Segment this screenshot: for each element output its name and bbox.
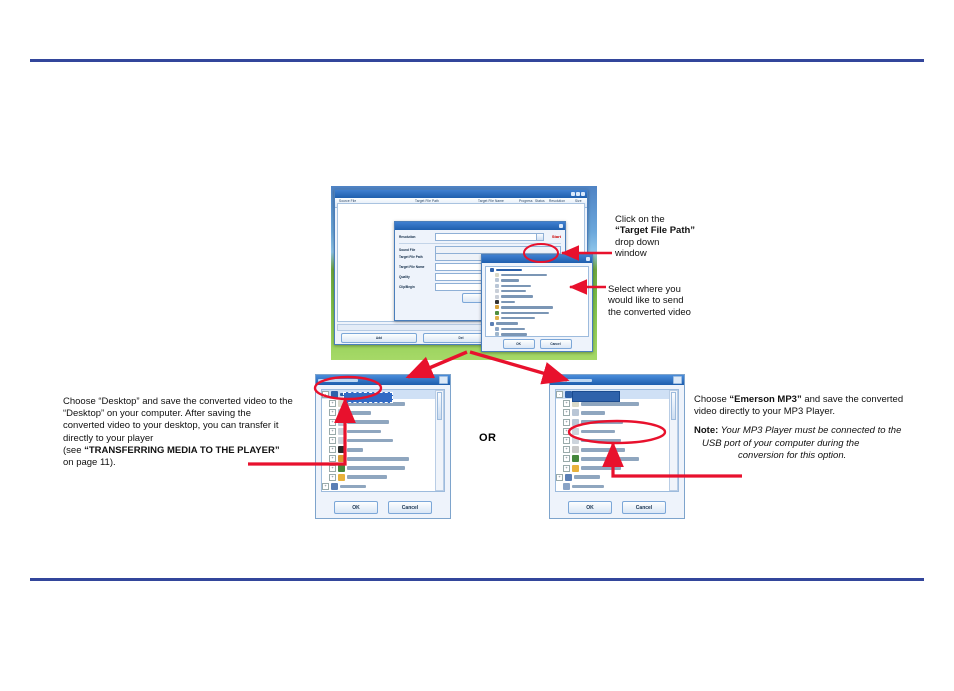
tree-label [496, 269, 522, 271]
tree-item-label [347, 439, 393, 443]
control-panel-icon [495, 327, 499, 331]
web-icon [495, 311, 499, 315]
tree-label [501, 317, 535, 319]
add-button[interactable]: Add [341, 333, 417, 343]
tree-item-label [581, 448, 625, 452]
tree-item-label [347, 466, 405, 470]
or-label: OR [479, 432, 496, 444]
settings-divider [399, 243, 561, 244]
tree-item-recovery-d[interactable]: + [322, 418, 444, 427]
destination-callout-line1: Select where you [608, 284, 798, 295]
dvd-icon [495, 295, 499, 299]
tree-item-label [347, 457, 409, 461]
tree-label [501, 279, 519, 281]
left-dialog-titlebar [316, 375, 450, 385]
tree-label [501, 290, 526, 292]
expand-icon[interactable]: + [563, 446, 570, 453]
tree-item-network[interactable]: + [556, 473, 678, 482]
drive-icon [572, 419, 579, 426]
tree-item-network[interactable]: + [322, 482, 444, 491]
expand-icon[interactable]: + [329, 446, 336, 453]
right-dialog-titlebar [550, 375, 684, 385]
tree-item-dvd-f[interactable]: + [556, 436, 678, 445]
expand-icon[interactable]: - [322, 391, 329, 398]
label-sound-file: Sound File [399, 248, 435, 252]
right-cancel-button[interactable]: Cancel [622, 501, 666, 514]
drive-icon [338, 419, 345, 426]
folder-icon [495, 316, 499, 320]
folder-icon [572, 465, 579, 472]
tree-item-my-web-sites[interactable]: + [322, 464, 444, 473]
label-target-file-name: Target File Name [399, 265, 435, 269]
tree-item-label [574, 475, 600, 479]
drive-icon [495, 278, 499, 282]
browse-popup-cancel-button[interactable]: Cancel [540, 339, 572, 349]
folder-icon [338, 474, 345, 481]
settings-close-control[interactable] [559, 224, 563, 228]
drive-icon [495, 284, 499, 288]
row-resolution: Resolution Start [399, 233, 561, 240]
desktop-option-ref-bold: “TRANSFERRING MEDIA TO THE PLAYER” [84, 445, 279, 456]
tree-item-memory-stick[interactable]: + [322, 454, 444, 463]
right-dialog-tree[interactable]: - + + + + + + + + + [555, 389, 679, 492]
mp3-option-bold: “Emerson MP3” [729, 394, 801, 405]
tree-item-removable-g[interactable]: + [322, 445, 444, 454]
tree-item-label [581, 457, 639, 461]
tree-item-label [347, 411, 371, 415]
mp3-option-paragraph: Choose “Emerson MP3” and save the conver… [694, 394, 922, 418]
tree-item-mapped-folder[interactable]: + [556, 464, 678, 473]
drive-icon [338, 409, 345, 416]
right-dialog-close-icon[interactable] [673, 376, 682, 384]
window-titlebar [335, 190, 587, 198]
tree-label [501, 306, 553, 308]
destination-callout-text: Select where you would like to send the … [608, 284, 798, 318]
recycle-bin-icon [495, 332, 499, 336]
tree-item-os-c[interactable]: + [556, 408, 678, 417]
start-link[interactable]: Start [552, 234, 561, 239]
left-selected-desktop-highlight[interactable] [343, 392, 393, 403]
mp3-note-text: Your MP3 Player must be connected to the… [702, 425, 901, 448]
desktop-option-paragraph: Choose “Desktop” and save the converted … [63, 396, 295, 445]
dropdown-callout-line3: drop down [615, 237, 805, 248]
tree-item-label [581, 420, 623, 424]
tree-item-os-c[interactable]: + [322, 408, 444, 417]
expand-icon[interactable]: + [329, 400, 336, 407]
expand-icon[interactable]: + [329, 465, 336, 472]
desktop-icon [565, 391, 572, 398]
expand-icon[interactable]: + [329, 419, 336, 426]
browse-popup-tree[interactable] [485, 266, 589, 337]
dropdown-callout-line2: “Target File Path” [615, 225, 805, 236]
folder-icon [495, 305, 499, 309]
dvd-icon [338, 437, 345, 444]
destination-callout-line3: the converted video [608, 307, 798, 318]
removable-icon [338, 446, 345, 453]
expand-icon[interactable]: + [563, 437, 570, 444]
cd-icon [572, 428, 579, 435]
tree-item-control-panel[interactable] [322, 491, 444, 492]
main-application-screenshot: Source File Target File Path Target File… [331, 186, 597, 360]
mp3-note-label: Note: [694, 425, 718, 436]
web-sites-icon [338, 465, 345, 472]
tree-item-label [581, 411, 605, 415]
tree-label [501, 295, 533, 297]
right-ok-button[interactable]: OK [568, 501, 612, 514]
tree-item-cd-e[interactable]: + [322, 427, 444, 436]
dvd-icon [572, 437, 579, 444]
network-icon [565, 474, 572, 481]
label-clip-begin: Clip/Begin [399, 285, 435, 289]
mp3-player-icon [572, 446, 579, 453]
mp3-option-text: Choose “Emerson MP3” and save the conver… [694, 394, 922, 462]
folder-dialog-left-screenshot: - + + + + + + + + + + OK Cancel [315, 374, 451, 519]
left-dialog-tree[interactable]: - + + + + + + + + + + [321, 389, 445, 492]
tree-item-control-panel[interactable] [556, 482, 678, 491]
left-dialog-scrollbar[interactable] [435, 390, 444, 491]
mp3-option-prefix: Choose [694, 394, 729, 405]
browse-popup-buttons: OK Cancel [482, 339, 592, 349]
tree-item-label [347, 430, 381, 434]
expand-icon[interactable]: + [329, 437, 336, 444]
left-ok-button[interactable]: OK [334, 501, 378, 514]
tree-item-label [581, 439, 621, 443]
tree-label [501, 333, 527, 335]
cd-icon [495, 289, 499, 293]
expand-icon[interactable]: + [329, 409, 336, 416]
resolution-combo[interactable] [435, 233, 544, 241]
folder-dialog-right-screenshot: - + + + + + + + + + OK Cancel [549, 374, 685, 519]
browse-folder-popup: OK Cancel [481, 254, 593, 352]
tree-item-label [581, 466, 621, 470]
browse-popup-ok-button[interactable]: OK [503, 339, 535, 349]
right-dialog-scrollbar[interactable] [669, 390, 678, 491]
browse-popup-titlebar [482, 255, 592, 263]
label-target-file-path: Target File Path [399, 255, 435, 259]
expand-icon[interactable]: + [329, 474, 336, 481]
tree-item-cd-e[interactable]: + [556, 427, 678, 436]
tree-item-label [581, 402, 639, 406]
right-selected-desktop-highlight[interactable] [572, 391, 620, 402]
tree-item-label [572, 485, 604, 489]
right-dialog-footer: OK Cancel [550, 501, 684, 514]
expand-icon[interactable]: + [563, 409, 570, 416]
memory-stick-icon [338, 455, 345, 462]
left-cancel-button[interactable]: Cancel [388, 501, 432, 514]
mp3-option-note: Note: Your MP3 Player must be connected … [694, 425, 922, 462]
tree-label [501, 328, 525, 330]
dropdown-callout-line1: Click on the [615, 214, 805, 225]
tree-label [501, 301, 515, 303]
tree-item-label [347, 448, 363, 452]
label-quality: Quality [399, 275, 435, 279]
network-icon [331, 483, 338, 490]
tree-label [496, 322, 518, 324]
desktop-option-ref-suffix: on page 11). [63, 457, 116, 468]
tree-item-emerson-mp3[interactable]: + [556, 445, 678, 454]
expand-icon[interactable]: - [556, 391, 563, 398]
manual-page: Source File Target File Path Target File… [0, 0, 954, 691]
destination-callout-line2: would like to send [608, 295, 798, 306]
tree-item-dvd-f[interactable]: + [322, 436, 444, 445]
tree-item-recycle-bin[interactable] [556, 491, 678, 492]
desktop-option-text: Choose “Desktop” and save the converted … [63, 396, 295, 469]
left-dialog-close-icon[interactable] [439, 376, 448, 384]
control-panel-icon [563, 483, 570, 490]
web-sites-icon [572, 455, 579, 462]
left-dialog-title [318, 379, 358, 382]
expand-icon[interactable]: + [329, 428, 336, 435]
browse-popup-close[interactable] [586, 257, 590, 261]
dropdown-callout-line4: window [615, 248, 805, 259]
cd-icon [338, 428, 345, 435]
label-resolution: Resolution [399, 235, 435, 239]
mp3-note-text2: conversion for this option. [702, 450, 922, 462]
right-dialog-title [552, 379, 592, 382]
header-rule [30, 59, 924, 62]
tree-label [501, 285, 531, 287]
tree-item-label [347, 420, 389, 424]
expand-icon[interactable]: + [563, 455, 570, 462]
removable-icon [495, 300, 499, 304]
tree-label [501, 312, 549, 314]
expand-icon[interactable]: + [563, 400, 570, 407]
settings-titlebar [395, 222, 565, 230]
dropdown-callout-text: Click on the “Target File Path” drop dow… [615, 214, 805, 260]
tree-label [501, 274, 547, 276]
tree-item-recovery-d[interactable]: + [556, 418, 678, 427]
expand-icon[interactable]: + [563, 419, 570, 426]
tree-item-label [347, 475, 387, 479]
desktop-icon [490, 268, 494, 272]
expand-icon[interactable]: + [563, 428, 570, 435]
footer-rule [30, 578, 924, 581]
expand-icon[interactable]: + [329, 455, 336, 462]
desktop-option-reference: (see “TRANSFERRING MEDIA TO THE PLAYER” … [63, 445, 295, 469]
drive-icon [495, 273, 499, 277]
desktop-icon [331, 391, 338, 398]
tree-item-mapped-folder[interactable]: + [322, 473, 444, 482]
expand-icon[interactable]: + [322, 483, 329, 490]
tree-item-label [581, 430, 615, 434]
desktop-option-ref-prefix: (see [63, 445, 84, 456]
drive-icon [572, 409, 579, 416]
tree-item-my-web-sites[interactable]: + [556, 454, 678, 463]
left-dialog-footer: OK Cancel [316, 501, 450, 514]
window-controls[interactable] [571, 192, 585, 196]
network-icon [490, 322, 494, 326]
expand-icon[interactable]: + [556, 474, 563, 481]
expand-icon[interactable]: + [563, 465, 570, 472]
tree-item-label [340, 485, 366, 489]
